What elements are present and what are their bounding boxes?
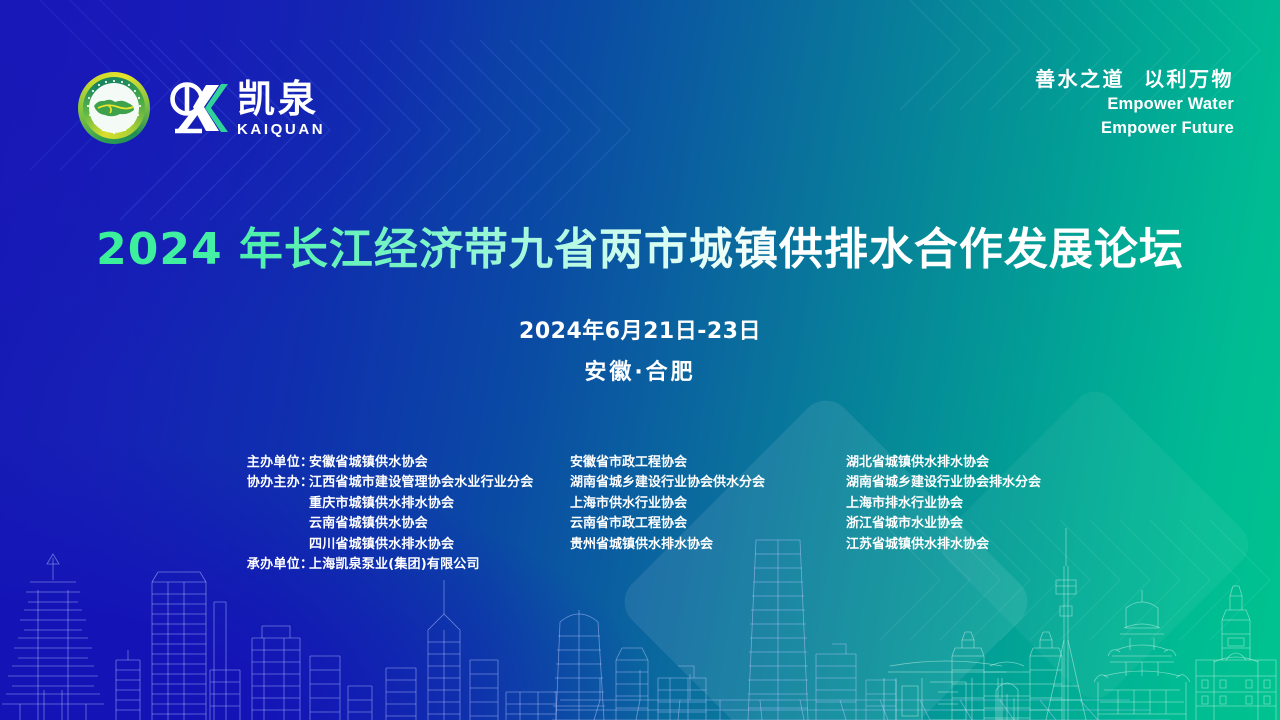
organizer-row: 浙江省城市水业协会 bbox=[846, 512, 1041, 533]
logo-row: 凯泉 KAIQUAN bbox=[78, 72, 325, 144]
event-location: 安徽·合肥 bbox=[0, 354, 1280, 386]
organizer-colon: ： bbox=[300, 553, 309, 572]
organizer-row: 上海市排水行业协会 bbox=[846, 491, 1041, 512]
organizer-row: 江苏省城镇供水排水协会 bbox=[846, 532, 1041, 553]
kaiquan-chinese-name: 凯泉 bbox=[237, 80, 325, 118]
organizer-row: 承办单位 ： 上海凯泉泵业(集团)有限公司 bbox=[231, 553, 570, 574]
organizer-label: 协办主办 bbox=[231, 471, 300, 490]
kaiquan-mark-icon bbox=[166, 80, 228, 136]
brand-slogan: 善水之道 以利万物 Empower Water Empower Future bbox=[1035, 66, 1234, 140]
organizer-colon: ： bbox=[300, 451, 309, 470]
organizer-row: 安徽省市政工程协会 bbox=[570, 450, 846, 471]
organizer-row: 贵州省城镇供水排水协会 bbox=[570, 532, 846, 553]
organizer-row: 四川省城镇供水排水协会 bbox=[231, 532, 570, 553]
organizer-row: 云南省城镇供水协会 bbox=[231, 512, 570, 533]
organizer-label: 主办单位 bbox=[231, 451, 300, 470]
emblem-ring-text-icon bbox=[78, 72, 150, 144]
organizer-colon: ： bbox=[300, 471, 309, 490]
event-date-block: 2024年6月21日-23日 安徽·合肥 bbox=[0, 313, 1280, 386]
kaiquan-english-name: KAIQUAN bbox=[237, 122, 325, 137]
organizer-column-1: 主办单位 ： 安徽省城镇供水协会 协办主办 ： 江西省城市建设管理协会水业行业分… bbox=[231, 450, 570, 573]
slogan-chinese: 善水之道 以利万物 bbox=[1035, 66, 1234, 92]
association-emblem-icon bbox=[78, 72, 150, 144]
organizer-row: 上海市供水行业协会 bbox=[570, 491, 846, 512]
kaiquan-logo: 凯泉 KAIQUAN bbox=[166, 80, 325, 137]
organizer-row: 重庆市城镇供水排水协会 bbox=[231, 491, 570, 512]
banner-poster: 凯泉 KAIQUAN 善水之道 以利万物 Empower Water Empow… bbox=[0, 0, 1280, 720]
organizer-column-2: 安徽省市政工程协会 湖南省城乡建设行业协会供水分会 上海市供水行业协会 云南省市… bbox=[570, 450, 846, 573]
organizer-row: 云南省市政工程协会 bbox=[570, 512, 846, 533]
organizer-label: 承办单位 bbox=[231, 553, 300, 572]
organizer-column-3: 湖北省城镇供水排水协会 湖南省城乡建设行业协会排水分会 上海市排水行业协会 浙江… bbox=[846, 450, 1041, 573]
organizer-value: 江西省城市建设管理协会水业行业分会 bbox=[309, 471, 533, 490]
organizer-row: 协办主办 ： 江西省城市建设管理协会水业行业分会 bbox=[231, 471, 570, 492]
organizer-block: 主办单位 ： 安徽省城镇供水协会 协办主办 ： 江西省城市建设管理协会水业行业分… bbox=[231, 450, 1041, 573]
organizer-row: 湖南省城乡建设行业协会排水分会 bbox=[846, 471, 1041, 492]
organizer-value: 安徽省城镇供水协会 bbox=[309, 451, 428, 470]
organizer-row: 湖南省城乡建设行业协会供水分会 bbox=[570, 471, 846, 492]
forum-title: 2024 年长江经济带九省两市城镇供排水合作发展论坛 bbox=[0, 213, 1280, 277]
organizer-value: 四川省城镇供水排水协会 bbox=[309, 533, 454, 552]
organizer-row: 湖北省城镇供水排水协会 bbox=[846, 450, 1041, 471]
slogan-english-line1: Empower Water bbox=[1035, 94, 1234, 116]
slogan-english-line2: Empower Future bbox=[1035, 118, 1234, 140]
organizer-value: 上海凯泉泵业(集团)有限公司 bbox=[309, 553, 480, 572]
organizer-row: 主办单位 ： 安徽省城镇供水协会 bbox=[231, 450, 570, 471]
organizer-value: 云南省城镇供水协会 bbox=[309, 512, 428, 531]
organizer-value: 重庆市城镇供水排水协会 bbox=[309, 492, 454, 511]
event-date: 2024年6月21日-23日 bbox=[0, 313, 1280, 345]
